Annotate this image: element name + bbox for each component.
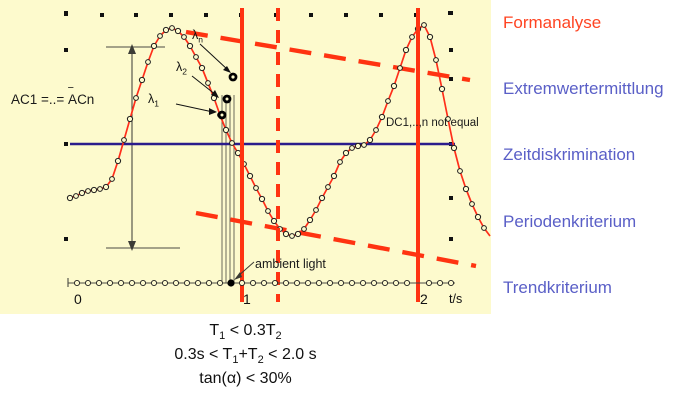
time-axis-sample-markers bbox=[74, 280, 453, 285]
lambda-arrow-heads bbox=[209, 66, 231, 115]
lambda-1-label: λ1 bbox=[148, 92, 159, 109]
arrow-head-down bbox=[128, 241, 136, 251]
ac-amplitude-label: AC1 =..= ACn bbox=[11, 93, 94, 107]
lambda-leader-arrows bbox=[176, 44, 228, 112]
arrow-head-up bbox=[128, 44, 136, 54]
slide-root: AC1 =..= ACn DC1,..,n not equal ambient … bbox=[0, 0, 697, 407]
x-tick-label-0: 0 bbox=[74, 291, 82, 307]
lambda-n-label: λn bbox=[192, 28, 203, 45]
lower-trend-line bbox=[196, 213, 476, 266]
criteria-item-formanalyse[interactable]: Formanalyse bbox=[503, 13, 601, 33]
plot-svg bbox=[0, 0, 491, 314]
upper-trend-line bbox=[186, 32, 470, 80]
criteria-item-extremwertermittlung[interactable]: Extremwertermittlung bbox=[503, 79, 664, 99]
ambient-light-sample-point bbox=[227, 279, 234, 286]
dc-inequality-label: DC1,..,n not equal bbox=[386, 118, 479, 130]
criteria-item-zeitdiskrimination[interactable]: Zeitdiskrimination bbox=[503, 145, 635, 165]
formula-line-2: 0.3s < T1+T2 < 2.0 s bbox=[0, 344, 491, 368]
criteria-formulas: T1 < 0.3T2 0.3s < T1+T2 < 2.0 s tan(α) <… bbox=[0, 320, 491, 389]
formula-line-1: T1 < 0.3T2 bbox=[0, 320, 491, 344]
criteria-item-trendkriterium[interactable]: Trendkriterium bbox=[503, 278, 612, 298]
x-axis-unit-label: t/s bbox=[449, 292, 462, 306]
x-tick-label-2: 2 bbox=[420, 291, 428, 307]
ambient-light-label: ambient light bbox=[255, 258, 326, 271]
lambda-2-label: λ2 bbox=[176, 60, 187, 77]
x-tick-label-1: 1 bbox=[243, 291, 251, 307]
waveform-plot-panel: AC1 =..= ACn DC1,..,n not equal ambient … bbox=[0, 0, 491, 314]
criteria-item-periodenkriterium[interactable]: Periodenkriterium bbox=[503, 212, 636, 232]
top-tick-row bbox=[64, 11, 453, 17]
formula-line-3: tan(α) < 30% bbox=[0, 368, 491, 389]
